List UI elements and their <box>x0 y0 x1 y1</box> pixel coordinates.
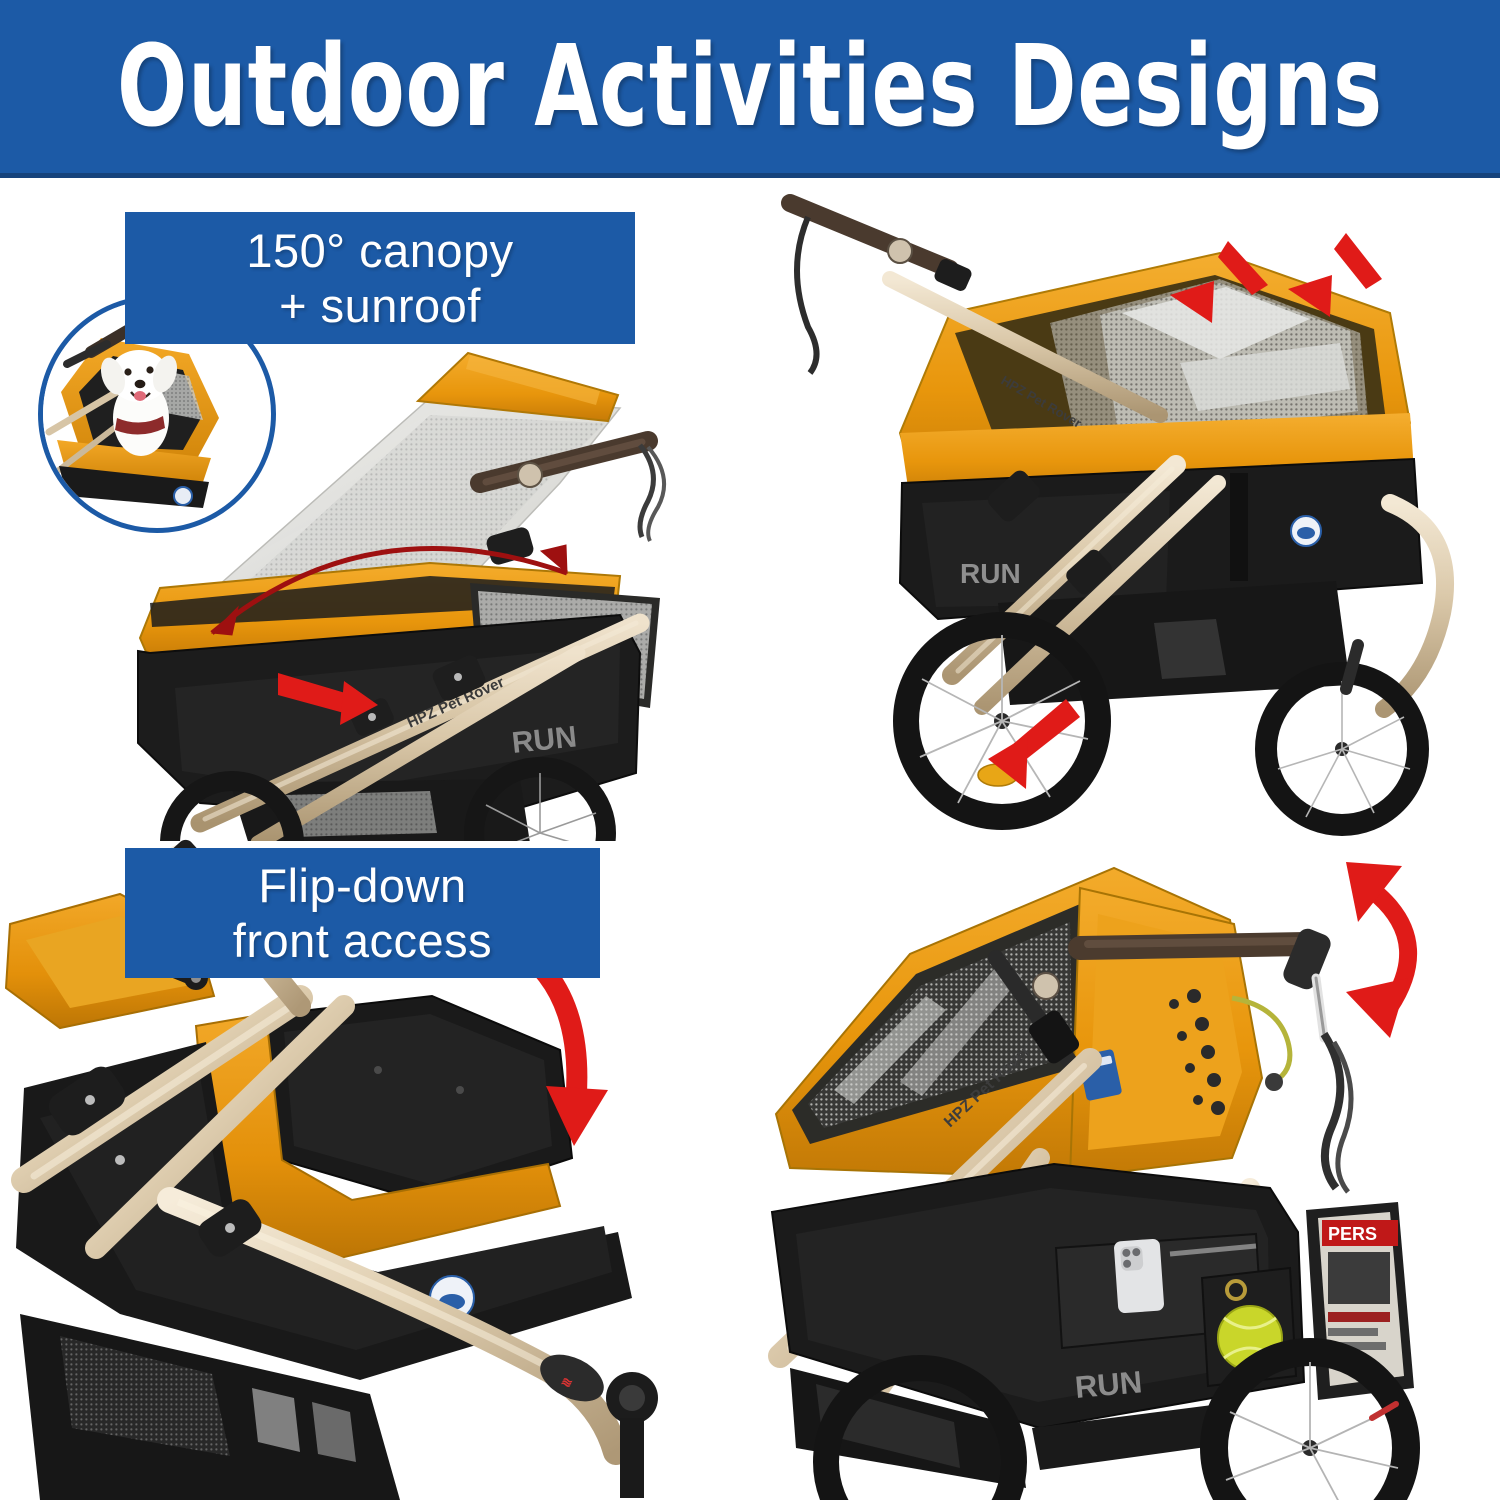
feature-label-line-2: front access <box>233 913 492 968</box>
wrist-strap <box>797 217 817 373</box>
feature-grid: RUN HPZ Pet Rover <box>0 183 1500 1500</box>
feature-label-line-1: Flip-down <box>258 858 466 913</box>
phone-camera-cluster <box>1120 1246 1144 1271</box>
feature-label-canopy-sunroof: 150° canopy + sunroof <box>125 212 635 344</box>
handlebar <box>790 203 950 373</box>
page-title: Outdoor Activities Designs <box>117 31 1383 143</box>
handlebar-stroller-illustration: HPZ Pet Rover <box>750 828 1500 1486</box>
body-strap <box>1230 473 1248 581</box>
feature-panel-reflective-elements: RUN HPZ Pet Rover <box>750 183 1500 841</box>
feature-label-line-2: + sunroof <box>279 278 481 333</box>
feature-panel-front-access: ≋ Flip-down front access <box>0 828 750 1486</box>
feature-label-front-access: Flip-down front access <box>125 848 600 978</box>
magazine-title-text: PERS <box>1328 1224 1377 1244</box>
bag-brand-run-text: RUN <box>510 720 578 760</box>
reflective-stroller-illustration: RUN HPZ Pet Rover <box>750 183 1500 841</box>
header-banner: Outdoor Activities Designs <box>0 0 1500 178</box>
handlebar-adjust-arrow <box>1346 862 1408 1038</box>
feature-panel-canopy-sunroof: RUN HPZ Pet Rover <box>0 183 750 841</box>
bag-brand-run-text: RUN <box>960 558 1021 589</box>
carabiner <box>1265 1073 1283 1091</box>
feature-panel-handlebar-adjust: HPZ Pet Rover <box>750 828 1500 1486</box>
bag-brand-run-text: RUN <box>1074 1364 1144 1405</box>
feature-label-line-1: 150° canopy <box>246 223 513 278</box>
